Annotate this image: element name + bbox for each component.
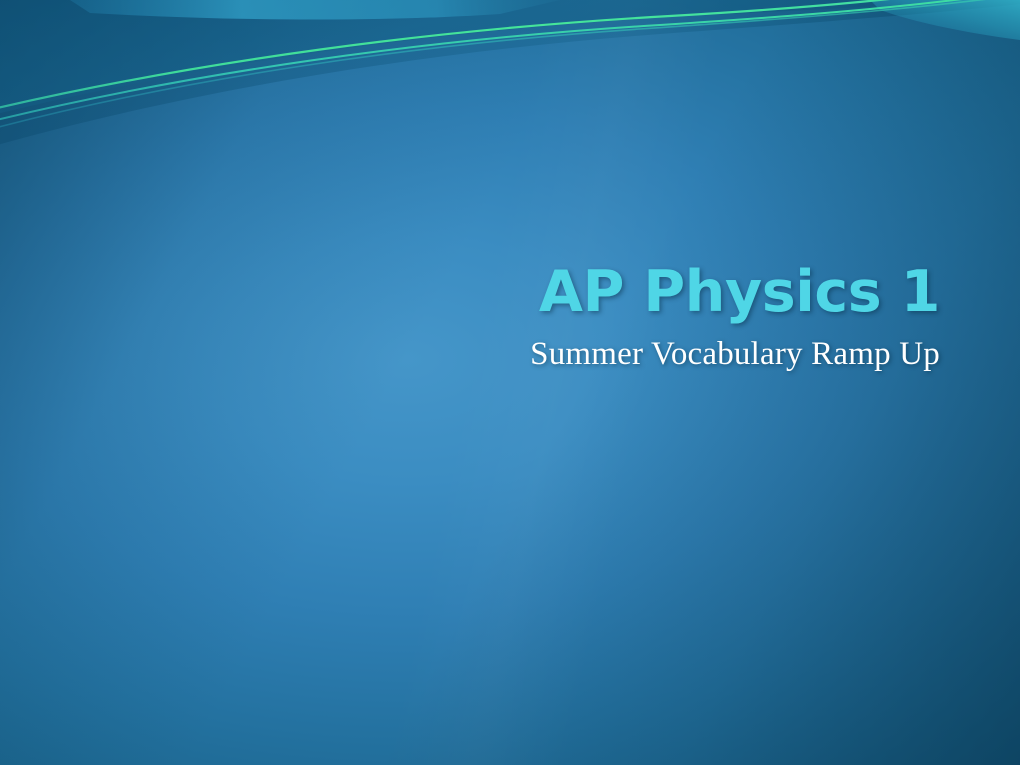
slide-subtitle: Summer Vocabulary Ramp Up: [120, 336, 940, 374]
slide-background-diagonal-band: [0, 0, 1020, 765]
slide-title: AP Physics 1: [120, 262, 940, 324]
title-text-block: AP Physics 1 Summer Vocabulary Ramp Up: [120, 262, 940, 373]
presentation-slide: AP Physics 1 Summer Vocabulary Ramp Up: [0, 0, 1020, 765]
